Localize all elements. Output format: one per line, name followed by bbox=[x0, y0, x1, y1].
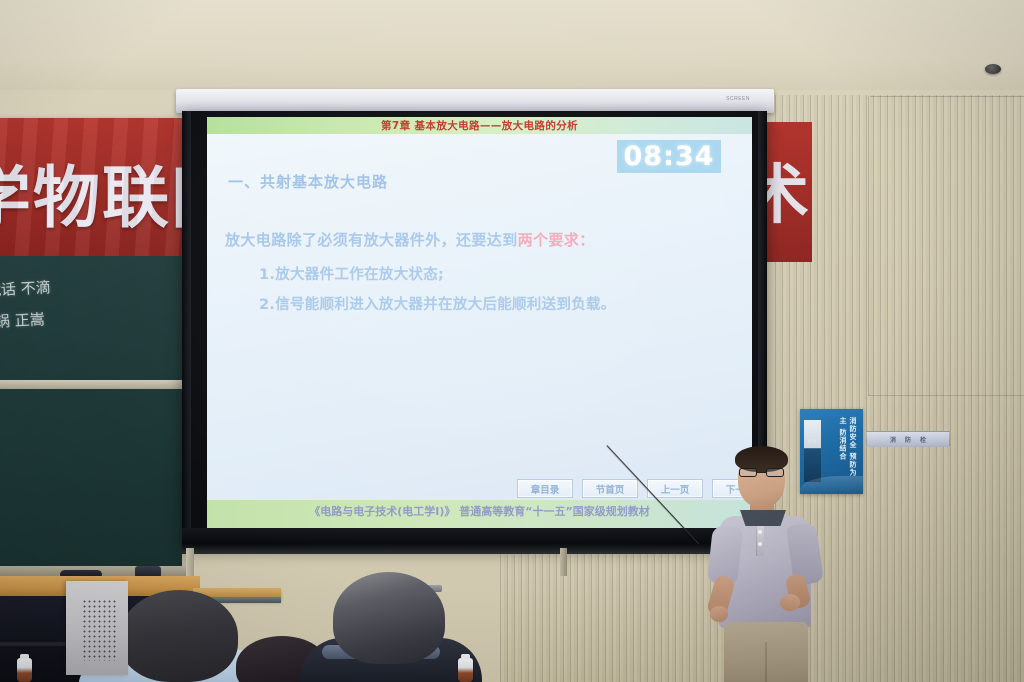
poster-strip-text: 安全 bbox=[805, 439, 819, 445]
water-bottle-cap-left bbox=[20, 654, 29, 659]
nav-button-section-home[interactable]: 节首页 bbox=[582, 479, 638, 498]
projector-screen-housing: SCREEN bbox=[176, 89, 774, 113]
nav-button-chapter-contents[interactable]: 章目录 bbox=[517, 479, 573, 498]
red-banner-left: 学物联网工 bbox=[0, 118, 186, 259]
slide-title-band: 第7章 基本放大电路——放大电路的分析 bbox=[207, 117, 752, 134]
audience-head-right bbox=[333, 572, 445, 664]
red-banner-left-text: 学物联网工 bbox=[0, 144, 186, 241]
chalk-text-line-1: 就话 不滴 bbox=[0, 276, 51, 300]
glasses-icon bbox=[739, 468, 784, 477]
glasses-lens-left bbox=[739, 468, 757, 477]
speaker-box bbox=[66, 581, 128, 675]
slide-lead-highlight: 两个要求： bbox=[518, 231, 595, 249]
presenter-hand-left bbox=[710, 606, 728, 622]
slide-body: 一、共射基本放大电路 放大电路除了必须有放大器件外，还要达到两个要求： 1.放大… bbox=[207, 157, 752, 314]
housing-label: SCREEN bbox=[726, 96, 750, 102]
water-bottle-left bbox=[17, 658, 32, 682]
slide-list-item-2: 2.信号能顺利进入放大器并在放大后能顺利送到负载。 bbox=[259, 293, 752, 314]
slide-lead-line: 放大电路除了必须有放大器件外，还要达到两个要求： bbox=[225, 229, 752, 250]
wall-sign-char-2: 防 bbox=[905, 435, 911, 444]
wall-sign-char-3: 栓 bbox=[920, 435, 926, 444]
projected-slide: 第7章 基本放大电路——放大电路的分析 08:34 一、共射基本放大电路 放大电… bbox=[207, 117, 752, 528]
glasses-lens-right bbox=[766, 468, 784, 477]
presenter bbox=[694, 446, 844, 682]
slide-lead-prefix: 放大电路除了必须有放大器件外，还要达到 bbox=[225, 231, 518, 249]
presenter-shirt-button-1 bbox=[758, 530, 762, 534]
water-bottle-cap-right bbox=[461, 654, 470, 659]
presenter-trousers-seam bbox=[765, 642, 767, 682]
chalk-text-line-2: 特锅 正嵩 bbox=[0, 308, 45, 332]
presenter-collar bbox=[740, 510, 786, 526]
slide-heading: 一、共射基本放大电路 bbox=[228, 171, 752, 192]
screen-rail-left bbox=[182, 111, 191, 547]
screen-bracket-right bbox=[560, 548, 567, 576]
screen-bottom-bar bbox=[182, 528, 767, 554]
presenter-shirt-button-2 bbox=[758, 542, 762, 546]
wall-sign-fire-hydrant: 消 防 栓 bbox=[866, 431, 950, 447]
slide-list-item-1: 1.放大器件工作在放大状态; bbox=[259, 263, 752, 284]
lecture-hall-scene: 学物联网工 术 就话 不滴 特锅 正嵩 SCREEN 第7章 基本放大电路——放… bbox=[0, 0, 1024, 682]
blackboard: 就话 不滴 特锅 正嵩 bbox=[0, 256, 186, 576]
wall-seam-horizontal bbox=[870, 96, 1024, 97]
speaker-grill bbox=[82, 599, 116, 661]
audience-head-left bbox=[120, 590, 238, 682]
presenter-shirt-placket bbox=[756, 522, 764, 556]
presenter-hand-right bbox=[780, 594, 800, 611]
water-bottle-right bbox=[458, 658, 473, 682]
wall-sign-char-1: 消 bbox=[890, 435, 896, 444]
slide-title: 第7章 基本放大电路——放大电路的分析 bbox=[381, 118, 578, 133]
wall-seam-horizontal-lower bbox=[868, 395, 1024, 396]
wall-seam-vertical bbox=[868, 96, 869, 396]
slide-footer-text: 《电路与电子技术(电工学I)》 普通高等教育“十一五”国家级规划教材 bbox=[207, 503, 752, 519]
ceiling-sensor-icon bbox=[985, 64, 1001, 74]
glasses-bridge bbox=[757, 472, 766, 473]
screen-bracket-left bbox=[186, 548, 194, 576]
wall-upper bbox=[0, 0, 1024, 100]
blackboard-divider bbox=[0, 380, 186, 389]
